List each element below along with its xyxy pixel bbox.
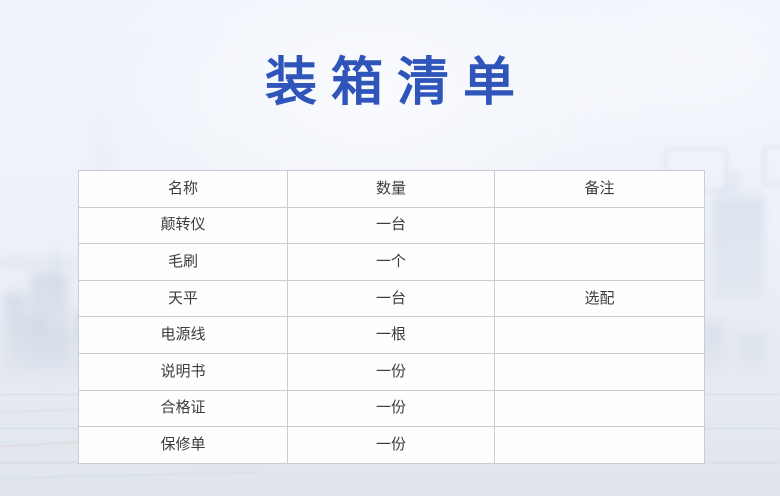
cell-name: 合格证 (79, 390, 288, 427)
cell-remark (495, 207, 705, 244)
cell-name: 说明书 (79, 353, 288, 390)
packing-list-table-container: 名称 数量 备注 颠转仪 一台 毛刷 一个 天平 一台 选配 电源线 (78, 170, 704, 464)
cell-remark (495, 427, 705, 464)
cell-quantity: 一台 (288, 207, 495, 244)
cell-quantity: 一个 (288, 244, 495, 281)
table-row: 毛刷 一个 (79, 244, 705, 281)
packing-list-table: 名称 数量 备注 颠转仪 一台 毛刷 一个 天平 一台 选配 电源线 (78, 170, 705, 464)
table-row: 颠转仪 一台 (79, 207, 705, 244)
cell-quantity: 一根 (288, 317, 495, 354)
table-row: 天平 一台 选配 (79, 280, 705, 317)
cell-name: 保修单 (79, 427, 288, 464)
cell-quantity: 一台 (288, 280, 495, 317)
table-row: 电源线 一根 (79, 317, 705, 354)
cell-quantity: 一份 (288, 353, 495, 390)
cell-remark: 选配 (495, 280, 705, 317)
column-header-quantity: 数量 (288, 171, 495, 208)
column-header-remark: 备注 (495, 171, 705, 208)
table-header-row: 名称 数量 备注 (79, 171, 705, 208)
cell-name: 颠转仪 (79, 207, 288, 244)
table-row: 保修单 一份 (79, 427, 705, 464)
table-row: 说明书 一份 (79, 353, 705, 390)
cell-name: 天平 (79, 280, 288, 317)
ghost-window-frame-right (763, 146, 780, 186)
table-header: 名称 数量 备注 (79, 171, 705, 208)
cell-name: 毛刷 (79, 244, 288, 281)
cell-quantity: 一份 (288, 427, 495, 464)
cell-remark (495, 390, 705, 427)
cell-remark (495, 353, 705, 390)
right-tower-silhouette (712, 188, 764, 300)
cell-remark (495, 244, 705, 281)
table-row: 合格证 一份 (79, 390, 705, 427)
cell-name: 电源线 (79, 317, 288, 354)
page-title: 装箱清单 (0, 55, 780, 111)
column-header-name: 名称 (79, 171, 288, 208)
cell-quantity: 一份 (288, 390, 495, 427)
cell-remark (495, 317, 705, 354)
table-body: 颠转仪 一台 毛刷 一个 天平 一台 选配 电源线 一根 说明书 一份 (79, 207, 705, 463)
